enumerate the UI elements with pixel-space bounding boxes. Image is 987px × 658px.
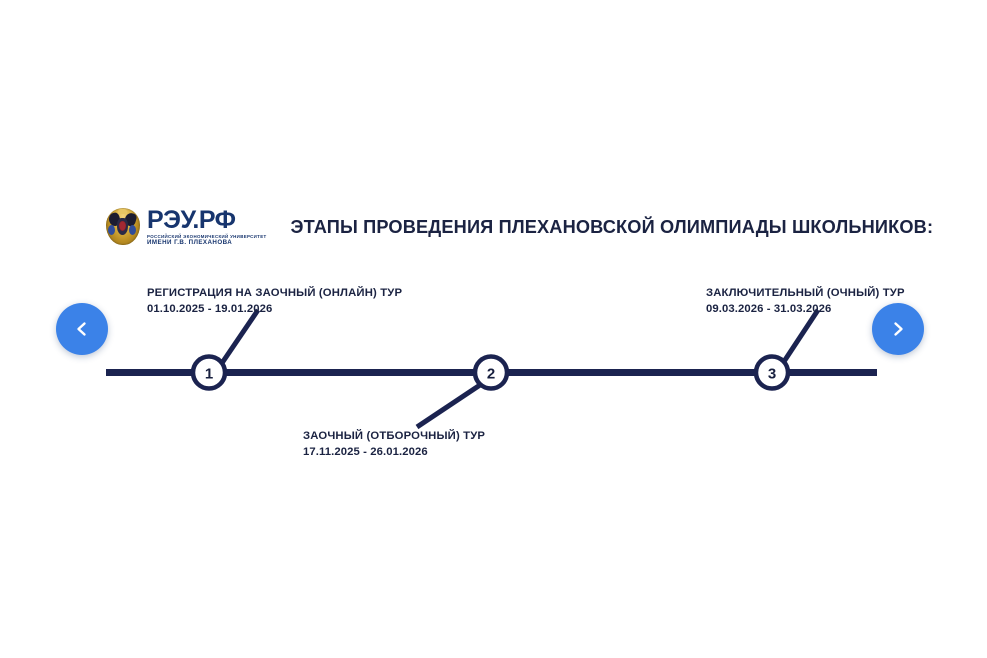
timeline-leader-line-1	[222, 310, 258, 363]
timeline-label-3: ЗАКЛЮЧИТЕЛЬНЫЙ (ОЧНЫЙ) ТУР 09.03.2026 - …	[706, 286, 905, 317]
timeline-leader-line-2	[417, 383, 483, 427]
timeline-label-2-dates: 17.11.2025 - 26.01.2026	[303, 445, 485, 460]
timeline-label-3-title: ЗАКЛЮЧИТЕЛЬНЫЙ (ОЧНЫЙ) ТУР	[706, 286, 905, 301]
timeline-graphic: 1 2 3	[0, 0, 987, 658]
timeline-node-1-number: 1	[205, 366, 213, 383]
timeline-label-2: ЗАОЧНЫЙ (ОТБОРОЧНЫЙ) ТУР 17.11.2025 - 26…	[303, 429, 485, 460]
timeline-label-2-title: ЗАОЧНЫЙ (ОТБОРОЧНЫЙ) ТУР	[303, 429, 485, 444]
timeline-label-1-title: РЕГИСТРАЦИЯ НА ЗАОЧНЫЙ (ОНЛАЙН) ТУР	[147, 286, 402, 301]
chevron-left-icon	[72, 319, 92, 339]
slide-canvas: РЭУ.РФ РОССИЙСКИЙ ЭКОНОМИЧЕСКИЙ УНИВЕРСИ…	[0, 0, 987, 658]
carousel-next-button[interactable]	[872, 303, 924, 355]
timeline-label-1: РЕГИСТРАЦИЯ НА ЗАОЧНЫЙ (ОНЛАЙН) ТУР 01.1…	[147, 286, 402, 317]
timeline-node-3-number: 3	[768, 366, 776, 383]
chevron-right-icon	[888, 319, 908, 339]
timeline-label-1-dates: 01.10.2025 - 19.01.2026	[147, 302, 402, 317]
carousel-prev-button[interactable]	[56, 303, 108, 355]
timeline-leader-line-3	[783, 310, 818, 363]
timeline-node-2-number: 2	[487, 366, 495, 383]
